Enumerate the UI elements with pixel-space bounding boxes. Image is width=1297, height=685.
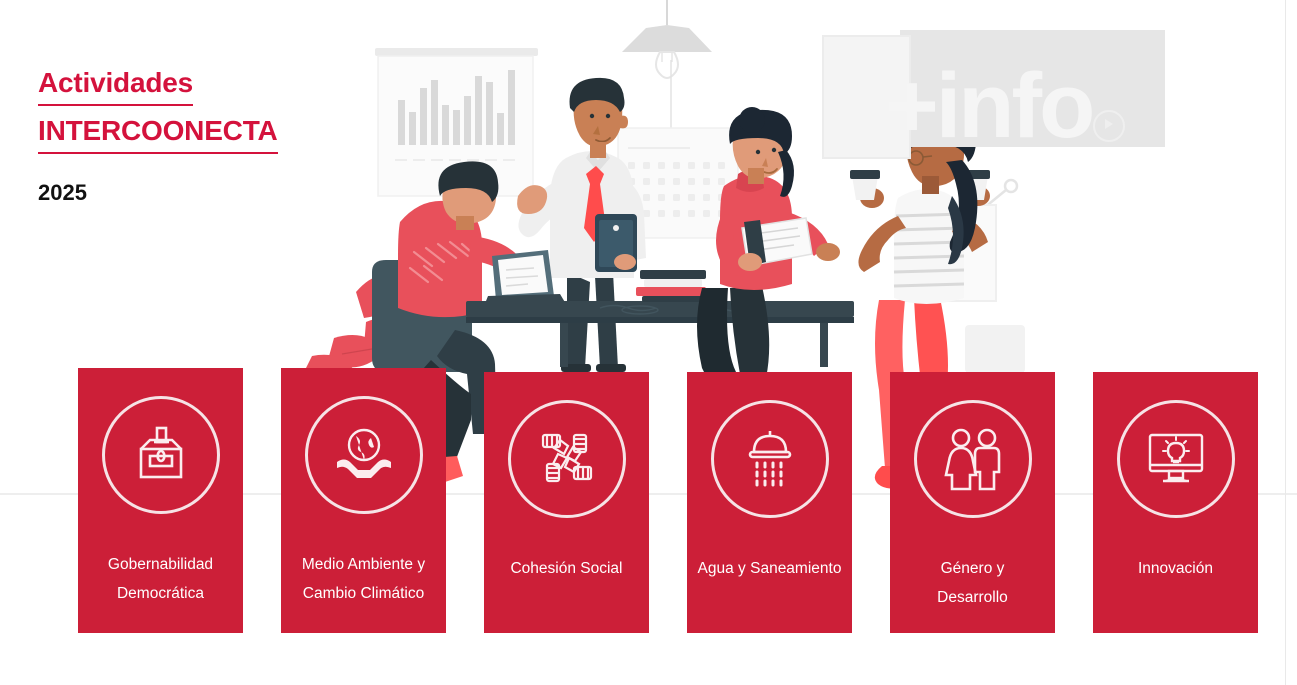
slide-canvas: ∾ +info Actividades INTERCOONECTA 2025 G… [0,0,1297,685]
card-agua-y-saneamiento[interactable]: Agua y Saneamiento [687,372,852,633]
card-label: Gobernabilidad Democrática [102,550,219,608]
page-title-line-2: INTERCOONECTA [38,110,278,154]
play-circle-icon [1093,110,1125,142]
card-label: Género y Desarrollo [931,554,1014,612]
ballot-box-icon [102,396,220,514]
card-label: Cohesión Social [504,554,628,583]
card-label: Medio Ambiente y Cambio Climático [296,550,431,608]
card-medio-ambiente-cambio-climatico[interactable]: Medio Ambiente y Cambio Climático [281,368,446,633]
two-people-icon [914,400,1032,518]
card-cohesion-social[interactable]: Cohesión Social [484,372,649,633]
monitor-lightbulb-icon [1117,400,1235,518]
globe-in-hands-icon [305,396,423,514]
title-block: Actividades INTERCOONECTA 2025 [38,62,368,206]
interlocking-hands-icon [508,400,626,518]
shower-head-icon [711,400,829,518]
card-gobernabilidad-democratica[interactable]: Gobernabilidad Democrática [78,368,243,633]
card-label: Innovación [1132,554,1219,583]
watermark-text: +info [885,60,1092,152]
card-label: Agua y Saneamiento [692,554,848,583]
card-innovacion[interactable]: Innovación [1093,372,1258,633]
page-title-year: 2025 [38,180,368,206]
page-title-line-1: Actividades [38,62,193,106]
card-genero-y-desarrollo[interactable]: Género y Desarrollo [890,372,1055,633]
slide-right-border [1285,0,1286,685]
